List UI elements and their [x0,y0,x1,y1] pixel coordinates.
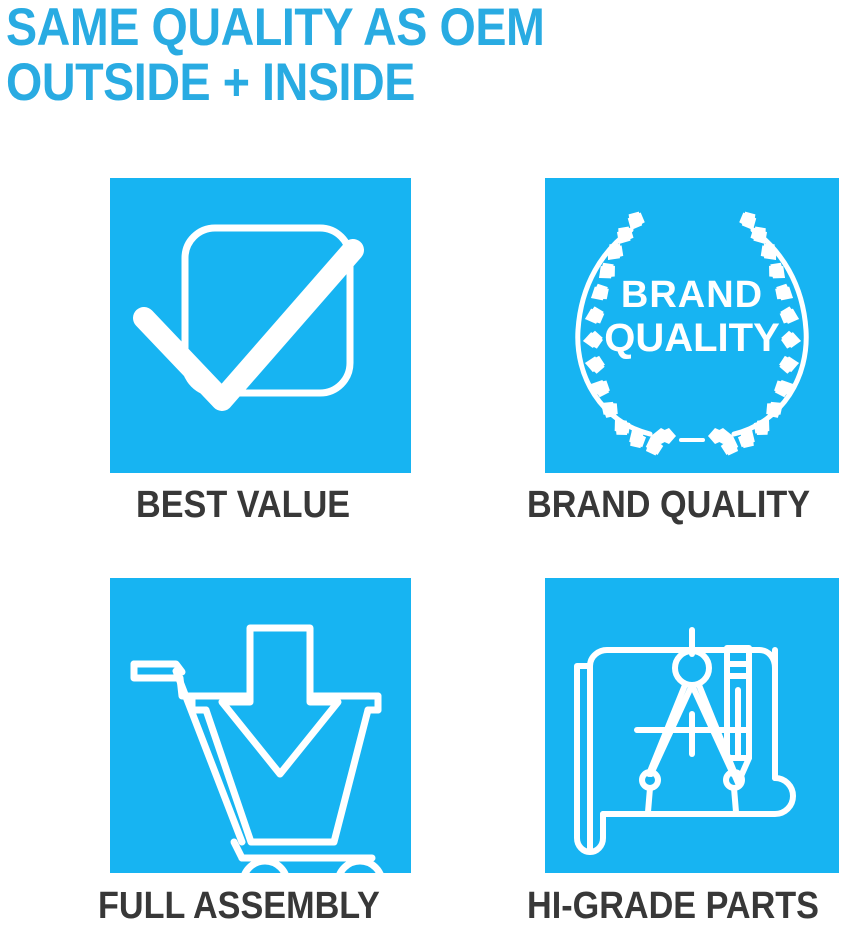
feature-label-full-assembly: FULL ASSEMBLY [98,886,380,926]
promo-graphic: SAME QUALITY AS OEM OUTSIDE + INSIDE BES… [0,0,862,929]
shopping-cart-download-icon [110,578,411,873]
feature-label-brand-quality: BRAND QUALITY [527,485,810,525]
feature-grid: BEST VALUE [0,0,862,929]
blueprint-compass-pencil-icon [545,578,839,873]
feature-label-hi-grade-parts: HI-GRADE PARTS [527,886,819,926]
feature-label-best-value: BEST VALUE [136,485,350,525]
checkbox-check-icon [110,178,411,473]
laurel-wreath-icon [545,178,839,473]
